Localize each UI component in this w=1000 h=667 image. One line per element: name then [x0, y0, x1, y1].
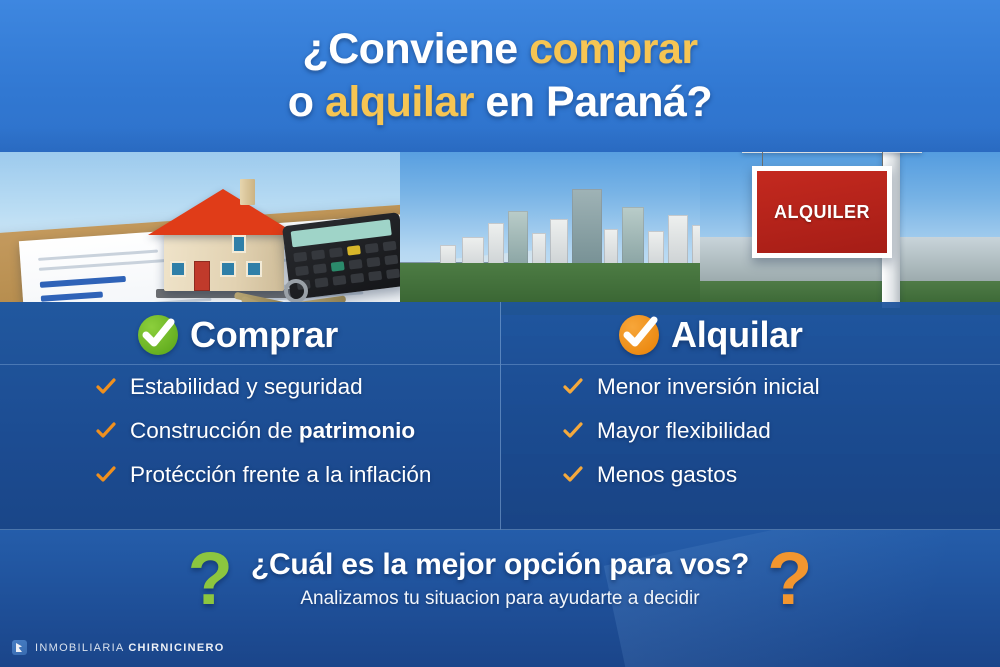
infographic-canvas: ¿Conviene comprar o alquilar en Paraná?: [0, 0, 1000, 667]
house-roof: [148, 189, 298, 235]
check-icon: [96, 377, 116, 397]
house-door: [194, 261, 210, 291]
house-window: [220, 261, 236, 277]
key-ring: [284, 279, 308, 303]
list-item-text-pre: Construcción de: [130, 418, 299, 443]
list-item: Menos gastos: [563, 462, 1000, 488]
panel-alquilar-list: Menor inversión inicial Mayor flexibilid…: [501, 356, 1000, 488]
list-item-text: Estabilidad y seguridad: [130, 374, 363, 400]
check-icon: [563, 465, 583, 485]
cta-text-block: ¿Cuál es la mejor opción para vos? Anali…: [251, 548, 749, 610]
question-mark-green-icon: ?: [188, 542, 233, 616]
panel-alquilar-header: Alquilar: [501, 302, 1000, 356]
cta-title: ¿Cuál es la mejor opción para vos?: [251, 548, 749, 582]
house-chimney: [240, 179, 255, 205]
title-line-2-highlight: alquilar: [325, 78, 474, 126]
check-icon: [563, 421, 583, 441]
house-window: [246, 261, 262, 277]
question-mark-orange-icon: ?: [767, 542, 812, 616]
list-item-text: Menor inversión inicial: [597, 374, 820, 400]
brand-name: CHIRNICINERO: [128, 642, 224, 654]
cta-subtitle: Analizamos tu situacion para ayudarte a …: [251, 582, 749, 610]
cta-content: ? ¿Cuál es la mejor opción para vos? Ana…: [0, 530, 1000, 616]
alquiler-sign-face: ALQUILER: [757, 171, 887, 253]
check-icon: [563, 377, 583, 397]
list-item: Menor inversión inicial: [563, 374, 1000, 400]
panel-comprar-header: Comprar: [0, 302, 500, 356]
model-house: [148, 187, 298, 291]
panel-divider: [501, 364, 1000, 365]
check-icon: [96, 421, 116, 441]
panel-comprar-title: Comprar: [190, 314, 338, 356]
list-item-text-bold: patrimonio: [299, 418, 415, 443]
title-line-1-highlight: comprar: [529, 25, 698, 73]
alquiler-sign: ALQUILER: [752, 166, 892, 258]
panel-alquilar[interactable]: Alquilar Menor inversión inicial Mayor f…: [500, 302, 1000, 530]
title-line-1: ¿Conviene comprar: [0, 0, 1000, 72]
list-item: Mayor flexibilidad: [563, 418, 1000, 444]
check-icon: [96, 465, 116, 485]
title-line-2-post: en Paraná?: [474, 78, 712, 126]
house-window: [170, 261, 186, 277]
panel-divider: [0, 364, 500, 365]
panel-comprar-list: Estabilidad y seguridad Construcción de …: [0, 356, 500, 488]
brand-logo-text: INMOBILIARIA CHIRNICINERO: [35, 642, 225, 654]
title-line-2-plain: o: [288, 78, 325, 126]
title-band: ¿Conviene comprar o alquilar en Paraná?: [0, 0, 1000, 152]
title-line-2: o alquilar en Paraná?: [0, 72, 1000, 125]
list-item: Estabilidad y seguridad: [96, 374, 500, 400]
panel-alquilar-title: Alquilar: [671, 314, 803, 356]
list-item-text: Menos gastos: [597, 462, 737, 488]
brand-logo[interactable]: INMOBILIARIA CHIRNICINERO: [12, 640, 225, 655]
list-item: Protécción frente a la inflación: [96, 462, 500, 488]
title-line-1-plain: ¿Conviene: [302, 25, 529, 73]
page-title: ¿Conviene comprar o alquilar en Paraná?: [0, 0, 1000, 125]
list-item-text: Construcción de patrimonio: [130, 418, 415, 444]
brand-prefix: INMOBILIARIA: [35, 642, 128, 654]
list-item: Construcción de patrimonio: [96, 418, 500, 444]
house-window: [232, 235, 246, 253]
green-check-circle-icon: [138, 315, 178, 355]
brand-mark-icon: [12, 640, 27, 655]
list-item-text: Mayor flexibilidad: [597, 418, 771, 444]
panel-comprar[interactable]: Comprar Estabilidad y seguridad Construc…: [0, 302, 500, 530]
orange-check-circle-icon: [619, 315, 659, 355]
comparison-panels: Comprar Estabilidad y seguridad Construc…: [0, 302, 1000, 530]
alquiler-sign-label: ALQUILER: [774, 202, 870, 223]
list-item-text: Protécción frente a la inflación: [130, 462, 431, 488]
